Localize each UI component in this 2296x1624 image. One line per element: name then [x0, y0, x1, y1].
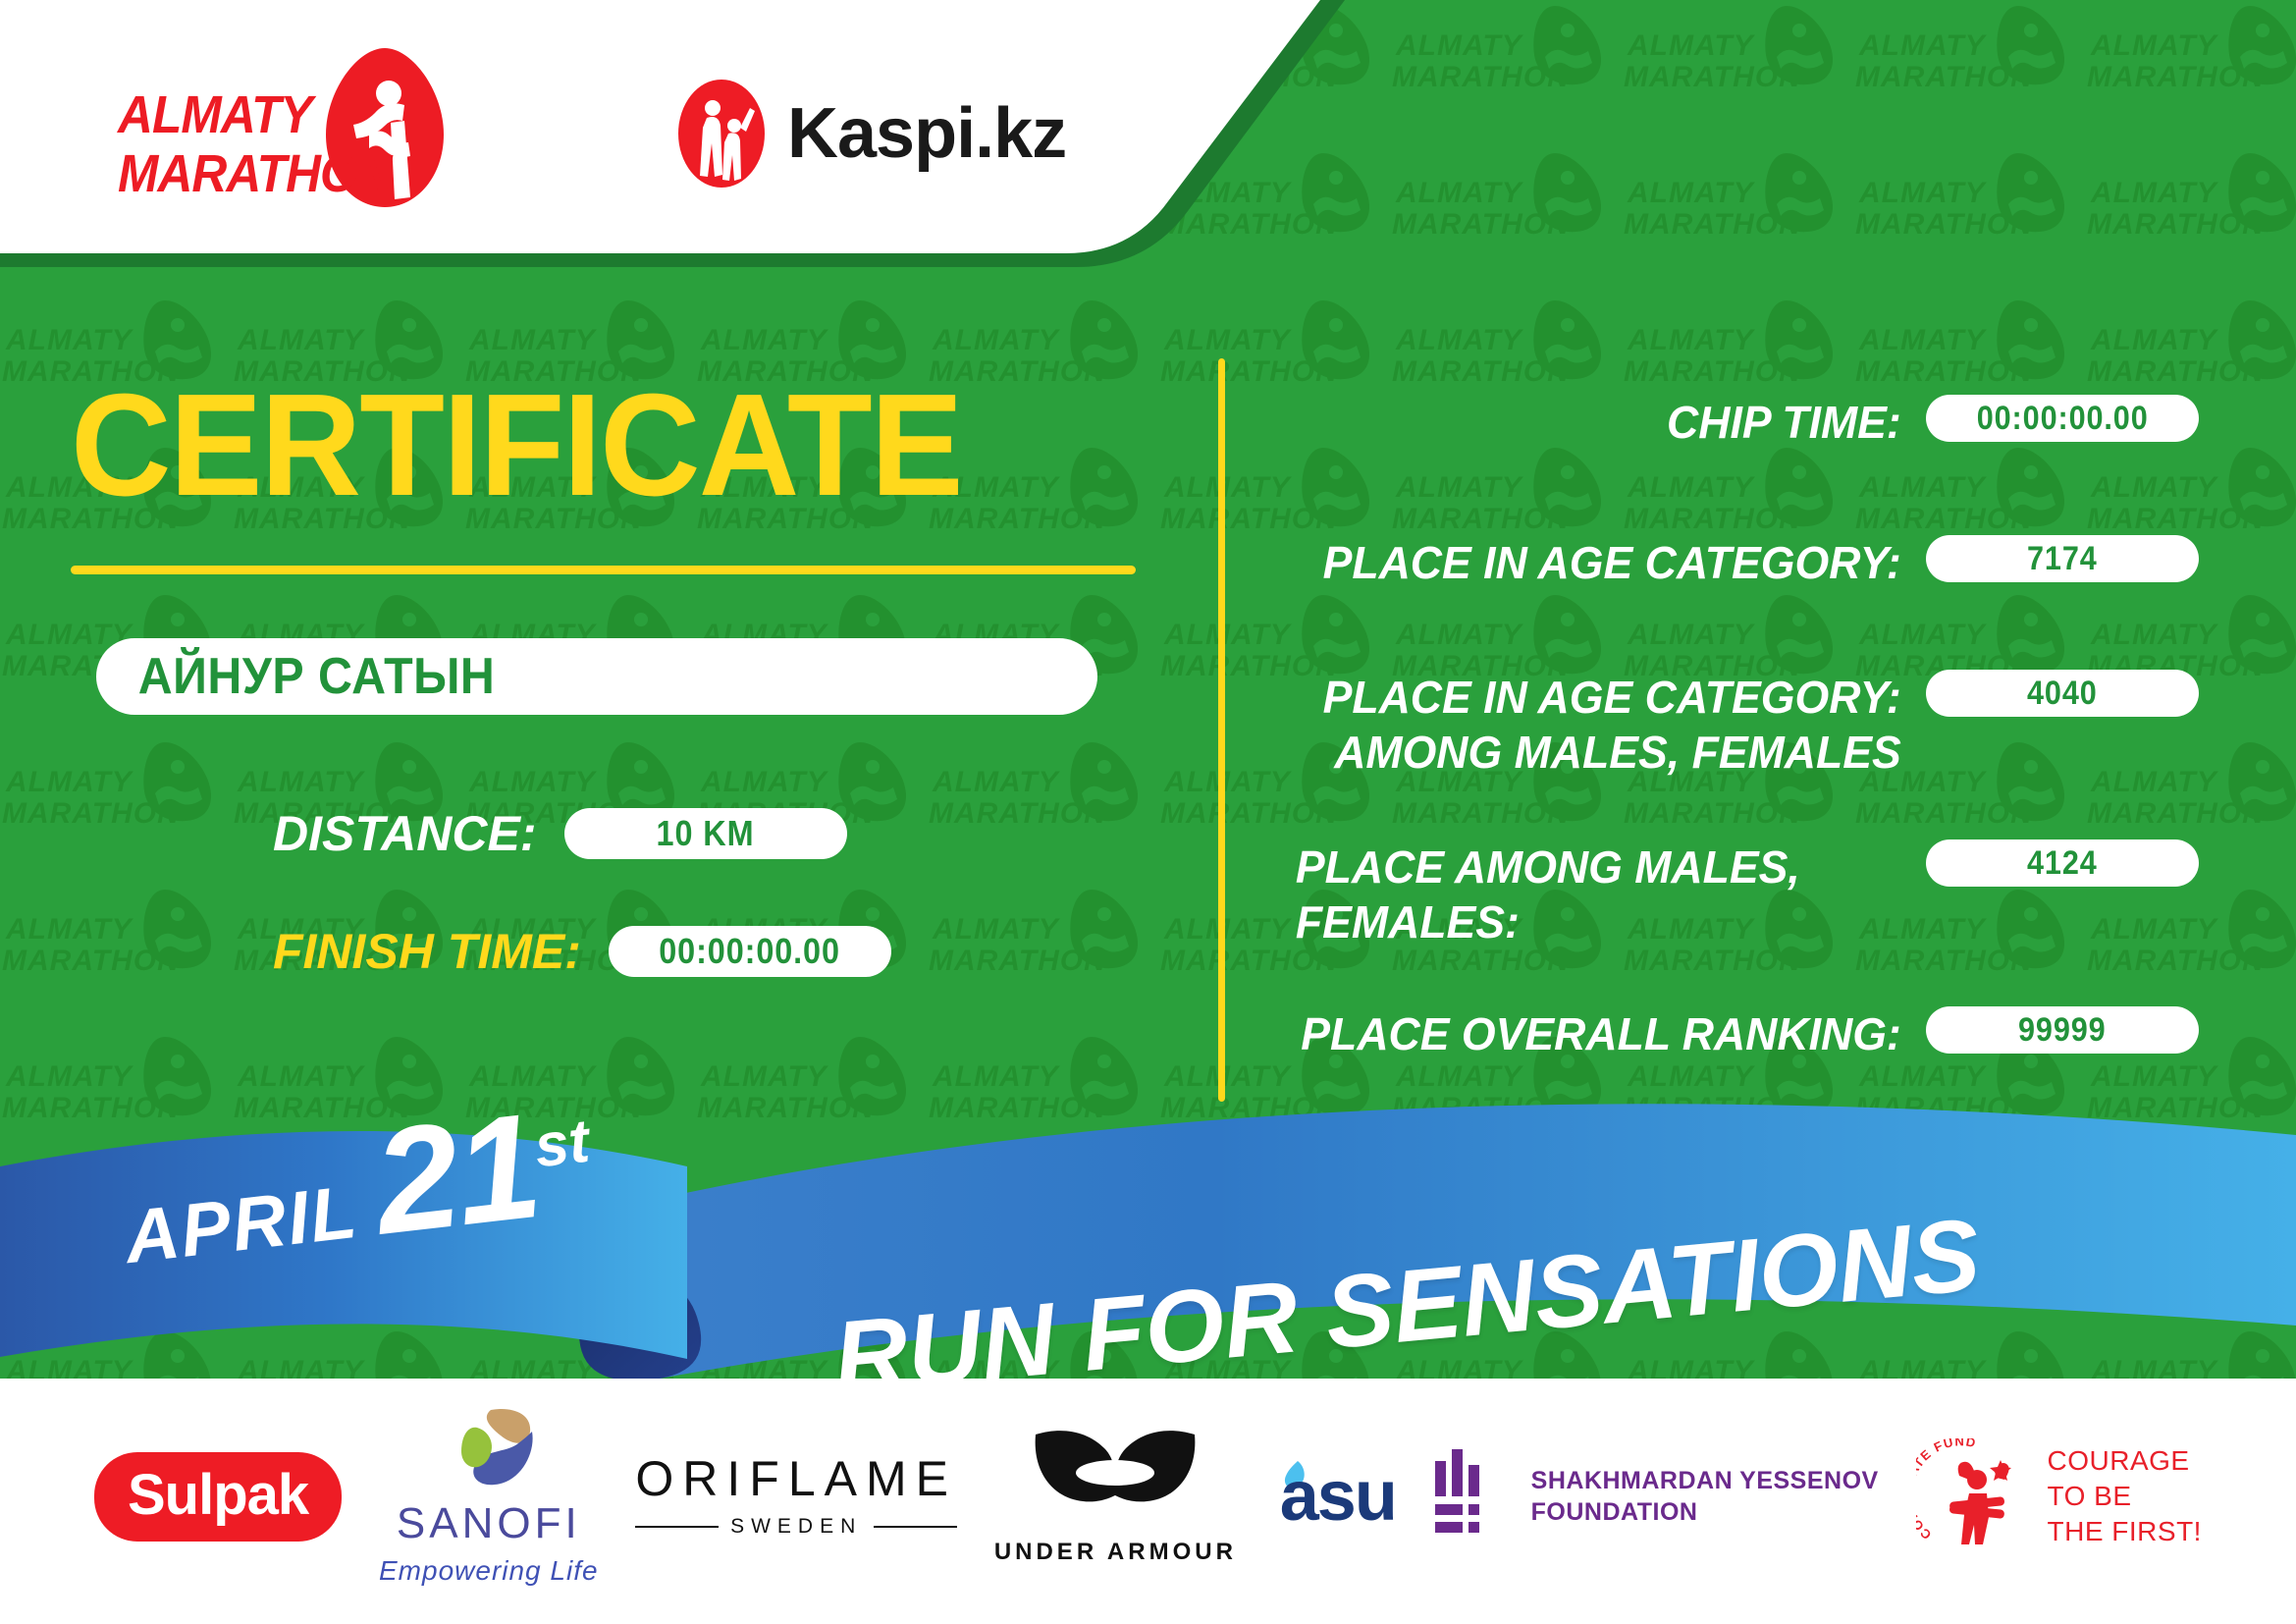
sponsor-sulpak: Sulpak — [94, 1452, 342, 1542]
sponsor-asu: asu — [1274, 1459, 1396, 1534]
place-age-category-gender-row: PLACE IN AGE CATEGORY: AMONG MALES, FEMA… — [1276, 670, 2199, 780]
oriflame-rule-right — [874, 1526, 957, 1528]
courage-runner-icon: CORPORATE FUND — [1916, 1438, 2034, 1554]
place-overall-value: 99999 — [2018, 1011, 2107, 1050]
place-age-category-gender-label-line1: PLACE IN AGE CATEGORY: — [1296, 670, 1901, 725]
oriflame-wordmark: ORIFLAME — [635, 1454, 957, 1503]
place-age-category-gender-value-pill: 4040 — [1926, 670, 2199, 717]
place-among-gender-label-line2: FEMALES: — [1296, 894, 1901, 949]
oriflame-tagline: SWEDEN — [730, 1515, 862, 1539]
event-day: 21 — [369, 1107, 544, 1243]
sponsor-sanofi: SANOFI Empowering Life — [379, 1406, 599, 1587]
almaty-marathon-wordmark: ALMATY MARATHON — [118, 85, 392, 203]
yessenov-wordmark-line2: FOUNDATION — [1531, 1496, 1879, 1528]
sanofi-mark-icon — [442, 1406, 536, 1496]
yessenov-bars-icon — [1433, 1447, 1510, 1545]
sponsor-bar: Sulpak SANOFI Empowering Life ORIFLAME S… — [0, 1379, 2296, 1624]
marathon-wordmark-line2: MARATHON — [118, 144, 392, 203]
chip-time-value: 00:00:00.00 — [1977, 400, 2149, 438]
distance-label: DISTANCE: — [273, 805, 537, 862]
column-divider — [1218, 358, 1225, 1102]
oriflame-rule-left — [635, 1526, 719, 1528]
place-overall-row: PLACE OVERALL RANKING: 99999 — [1276, 1006, 2199, 1061]
certificate-canvas: ALMATY MARATHON ALMATY MARATHON — [0, 0, 2296, 1624]
courage-line2: TO BE — [2048, 1479, 2202, 1514]
sponsor-under-armour: UNDER ARMOUR — [994, 1427, 1237, 1566]
place-age-category-row: PLACE IN AGE CATEGORY: 7174 — [1276, 535, 2199, 590]
yessenov-wordmark: SHAKHMARDAN YESSENOV FOUNDATION — [1531, 1465, 1879, 1528]
place-among-gender-label-line1: PLACE AMONG MALES, — [1296, 839, 1901, 894]
chip-time-row: CHIP TIME: 00:00:00.00 — [1276, 395, 2199, 450]
courage-line3: THE FIRST! — [2048, 1514, 2202, 1549]
place-age-category-value: 7174 — [2027, 540, 2098, 578]
under-armour-icon — [1022, 1427, 1208, 1531]
event-month: APRIL — [121, 1169, 362, 1280]
under-armour-wordmark: UNDER ARMOUR — [994, 1539, 1237, 1566]
yessenov-wordmark-line1: SHAKHMARDAN YESSENOV — [1531, 1465, 1879, 1496]
place-age-category-gender-label-line2: AMONG MALES, FEMALES — [1296, 725, 1901, 780]
courage-wordmark: COURAGE TO BE THE FIRST! — [2048, 1443, 2202, 1549]
participant-name-field: АЙНУР САТЫН — [96, 638, 1097, 715]
participant-name-value: АЙНУР САТЫН — [96, 647, 495, 706]
certificate-title-block: CERTIFICATE — [71, 373, 1121, 574]
kaspi-logo: Kaspi.kz — [677, 79, 1066, 189]
place-overall-value-pill: 99999 — [1926, 1006, 2199, 1054]
kaspi-people-icon — [677, 79, 766, 189]
marathon-wordmark-line1: ALMATY — [118, 85, 392, 144]
sponsor-oriflame: ORIFLAME SWEDEN — [635, 1454, 957, 1539]
place-age-category-label: PLACE IN AGE CATEGORY: — [1296, 535, 1926, 590]
distance-value: 10 KM — [657, 813, 755, 854]
sponsor-yessenov-foundation: SHAKHMARDAN YESSENOV FOUNDATION — [1433, 1447, 1879, 1545]
sanofi-tagline: Empowering Life — [379, 1555, 599, 1587]
chip-time-value-pill: 00:00:00.00 — [1926, 395, 2199, 442]
certificate-title: CERTIFICATE — [71, 373, 1079, 518]
oriflame-sub: SWEDEN — [635, 1515, 957, 1539]
event-date: APRIL21st — [116, 1101, 599, 1281]
finish-time-row: FINISH TIME: 00:00:00.00 — [273, 923, 891, 980]
place-among-gender-value-pill: 4124 — [1926, 839, 2199, 887]
place-among-gender-label: PLACE AMONG MALES, FEMALES: — [1296, 839, 1926, 949]
almaty-marathon-logo: ALMATY MARATHON — [118, 54, 452, 201]
sulpak-logo: Sulpak — [94, 1452, 342, 1542]
sanofi-wordmark: SANOFI — [397, 1502, 581, 1545]
place-overall-label: PLACE OVERALL RANKING: — [1296, 1006, 1926, 1061]
event-day-suffix: st — [531, 1107, 593, 1182]
title-underline-rule — [71, 566, 1136, 574]
finish-time-label: FINISH TIME: — [273, 923, 581, 980]
place-age-category-gender-label: PLACE IN AGE CATEGORY: AMONG MALES, FEMA… — [1296, 670, 1926, 780]
sponsor-courage-to-be-the-first: CORPORATE FUND COURAGE TO BE THE FIRST! — [1916, 1438, 2202, 1554]
chip-time-label: CHIP TIME: — [1296, 395, 1926, 450]
place-among-gender-value: 4124 — [2027, 844, 2098, 883]
place-age-category-gender-value: 4040 — [2027, 675, 2098, 713]
distance-value-pill: 10 KM — [564, 808, 847, 859]
finish-time-value: 00:00:00.00 — [660, 931, 841, 972]
sulpak-wordmark: Sulpak — [128, 1463, 308, 1527]
asu-wordmark: asu — [1280, 1461, 1396, 1532]
kaspi-wordmark: Kaspi.kz — [787, 98, 1066, 169]
place-among-gender-row: PLACE AMONG MALES, FEMALES: 4124 — [1276, 839, 2199, 949]
courage-line1: COURAGE — [2048, 1443, 2202, 1479]
finish-time-value-pill: 00:00:00.00 — [609, 926, 891, 977]
place-age-category-value-pill: 7174 — [1926, 535, 2199, 582]
distance-row: DISTANCE: 10 KM — [273, 805, 847, 862]
